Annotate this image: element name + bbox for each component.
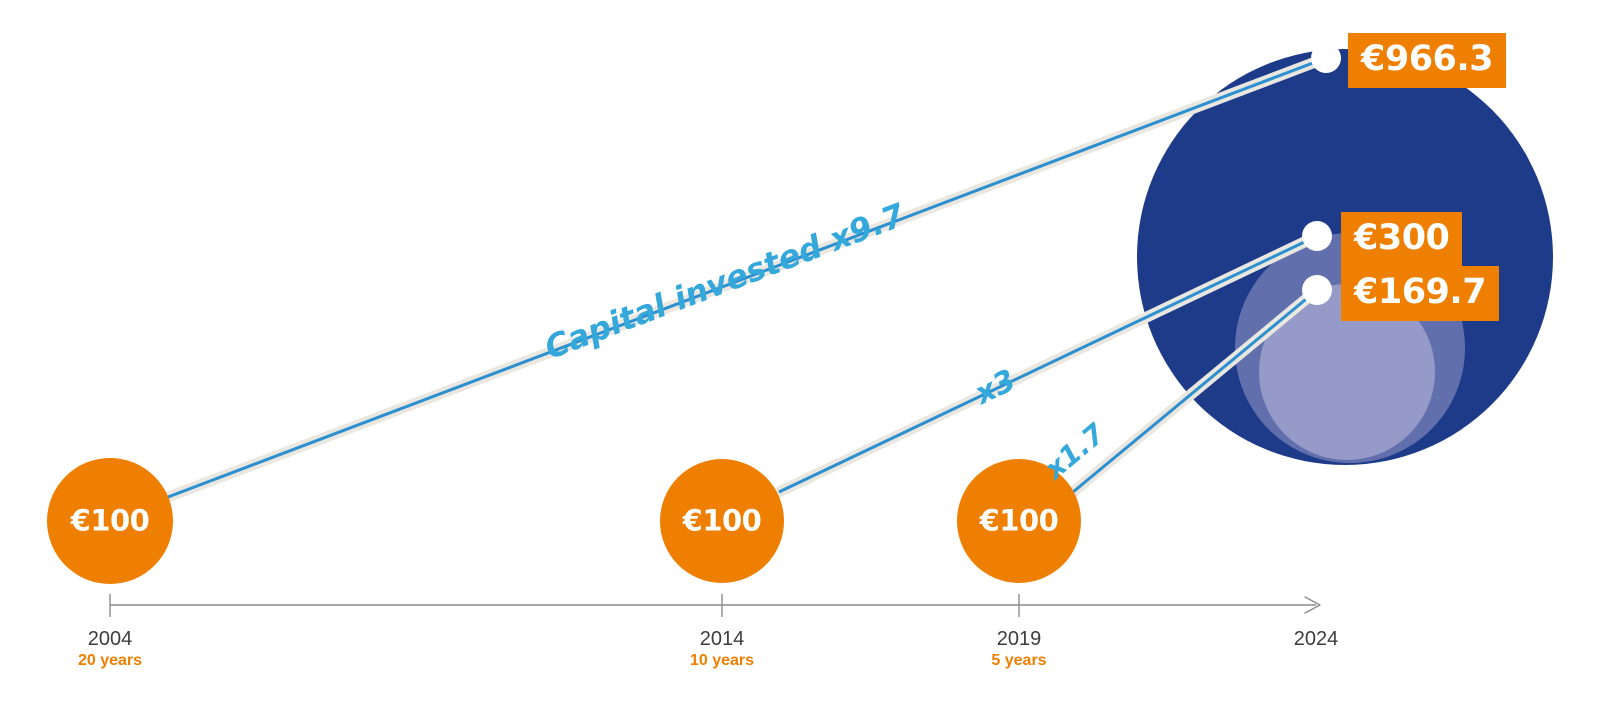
start-node-2004 [47, 458, 173, 584]
axis-year-2019: 2019 [991, 628, 1046, 651]
axis-span-2019: 5 years [991, 651, 1046, 670]
value-badge-169: €169.7 [1341, 266, 1499, 321]
axis-tick-label-2014: 2014 10 years [690, 628, 754, 670]
axis-span-2004: 20 years [78, 651, 142, 670]
end-point-300 [1302, 221, 1332, 251]
axis-year-2024: 2024 [1294, 628, 1339, 651]
timeline-axis [110, 594, 1320, 617]
axis-tick-label-2004: 2004 20 years [78, 628, 142, 670]
investment-growth-chart [0, 0, 1600, 720]
start-node-group [47, 458, 1081, 584]
axis-tick-label-2024: 2024 [1294, 628, 1339, 651]
axis-year-2004: 2004 [78, 628, 142, 651]
start-node-2014 [660, 459, 784, 583]
end-point-966 [1311, 43, 1341, 73]
axis-tick-label-2019: 2019 5 years [991, 628, 1046, 670]
value-badge-300: €300 [1341, 212, 1462, 267]
axis-year-2014: 2014 [690, 628, 754, 651]
chart-canvas: €100 €100 €100 €966.3 €300 €169.7 Capita… [0, 0, 1600, 720]
value-badge-966: €966.3 [1348, 33, 1506, 88]
axis-span-2014: 10 years [690, 651, 754, 670]
end-point-169 [1302, 275, 1332, 305]
